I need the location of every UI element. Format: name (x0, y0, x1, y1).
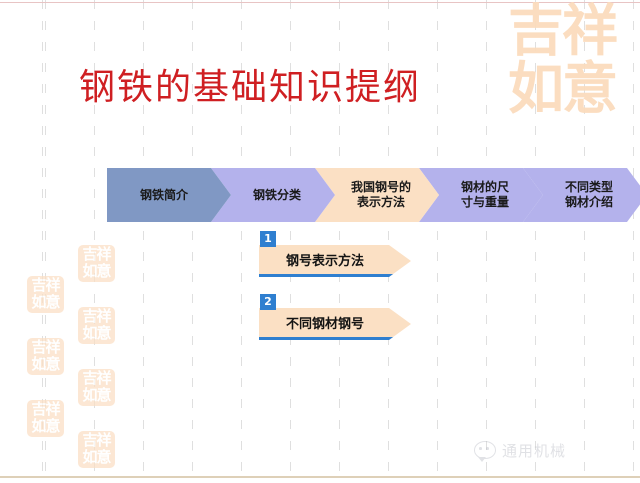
seal-watermark: 吉祥如意 (78, 369, 115, 406)
footer-account-logo: 通用机械 (474, 437, 634, 463)
footer-account-name: 通用机械 (502, 440, 566, 461)
process-step-label: 我国钢号的表示方法 (337, 180, 417, 210)
slide-canvas: 吉祥如意吉祥如意吉祥如意吉祥如意吉祥如意吉祥如意吉祥如意 吉祥如意 钢铁的基础知… (0, 0, 640, 483)
seal-watermark: 吉祥如意 (27, 400, 64, 437)
seal-watermark: 吉祥如意 (27, 276, 64, 313)
seal-watermark: 吉祥如意 (78, 245, 115, 282)
process-step-label: 钢材的尺寸与重量 (447, 180, 515, 210)
process-step-1[interactable]: 钢铁简介 (107, 168, 231, 222)
seal-watermark: 吉祥如意 (27, 338, 64, 375)
wechat-icon (474, 441, 496, 459)
bottom-divider-rule (0, 476, 640, 478)
callout-item-1[interactable]: 钢号表示方法 (259, 245, 411, 277)
callout-label: 不同钢材钢号 (259, 313, 411, 332)
callout-number-badge-1: 1 (260, 231, 276, 247)
process-step-label: 钢铁简介 (134, 188, 204, 203)
process-step-label: 钢铁分类 (239, 188, 307, 203)
page-title: 钢铁的基础知识提纲 (0, 58, 640, 110)
process-step-label: 不同类型钢材介绍 (551, 180, 619, 210)
seal-watermark: 吉祥如意 (78, 431, 115, 468)
callout-number-badge-2: 2 (260, 294, 276, 310)
seal-watermark: 吉祥如意 (78, 307, 115, 344)
callout-label: 钢号表示方法 (259, 250, 411, 269)
process-flow: 钢铁简介钢铁分类我国钢号的表示方法钢材的尺寸与重量不同类型钢材介绍 (107, 168, 609, 222)
callout-item-2[interactable]: 不同钢材钢号 (259, 308, 411, 340)
